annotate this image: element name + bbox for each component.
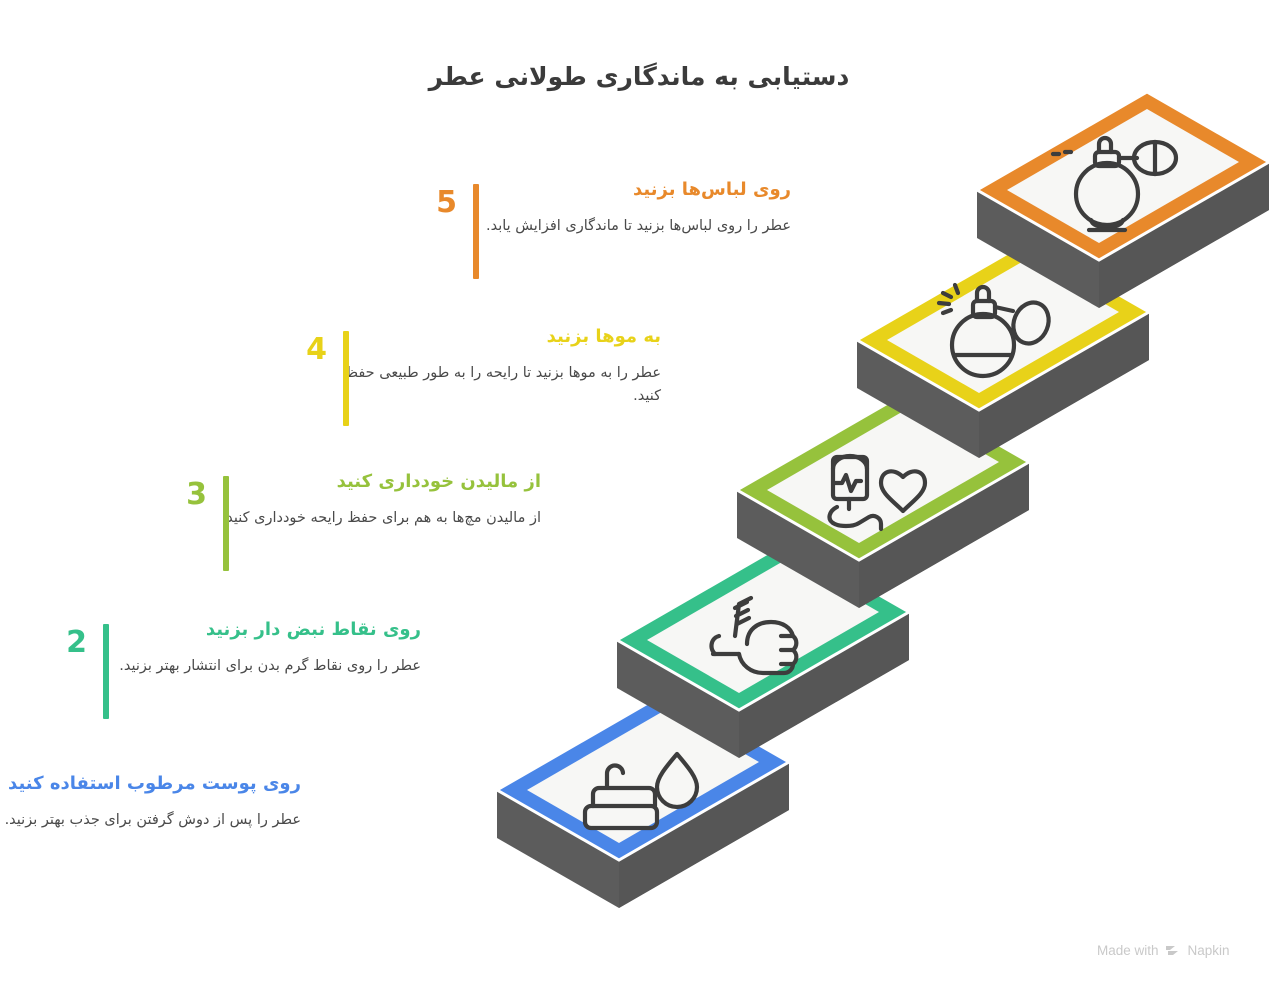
step-body-2: عطر را روی نقاط گرم بدن برای انتشار بهتر… xyxy=(100,655,422,677)
step-heading-1: روی پوست مرطوب استفاده کنید xyxy=(0,772,302,795)
watermark-brand: Napkin xyxy=(1189,943,1231,958)
step-heading-4: به موها بزنید xyxy=(340,325,662,348)
step-text-5: 5 روی لباس‌ها بزنید عطر را روی لباس‌ها ب… xyxy=(470,178,810,238)
watermark-prefix: Made with xyxy=(1098,943,1160,958)
atomizer-spray-icon xyxy=(940,285,1056,376)
step-number-2: 2 xyxy=(67,628,88,658)
step-accent-bar-3 xyxy=(224,476,230,571)
step-body-3: از مالیدن مچ‌ها به هم برای حفظ رایحه خود… xyxy=(220,507,542,529)
step-accent-bar-2 xyxy=(104,624,110,719)
napkin-chevrons-icon xyxy=(1166,943,1183,958)
infographic-canvas: دستیابی به ماندگاری طولانی عطر xyxy=(0,0,1280,993)
stair-step-2[interactable] xyxy=(618,542,910,758)
step-accent-bar-4 xyxy=(344,331,350,426)
step-text-1: 1 روی پوست مرطوب استفاده کنید عطر را پس … xyxy=(0,772,320,832)
step-heading-2: روی نقاط نبض دار بزنید xyxy=(100,618,422,641)
step-accent-bar-5 xyxy=(474,184,480,279)
stair-step-1[interactable] xyxy=(498,692,790,908)
perfume-bottle-bulb-icon xyxy=(1054,138,1177,230)
step-number-5: 5 xyxy=(437,188,458,218)
step-body-5: عطر را روی لباس‌ها بزنید تا ماندگاری افز… xyxy=(470,215,792,237)
stair-step-4[interactable] xyxy=(858,242,1150,458)
page-title: دستیابی به ماندگاری طولانی عطر xyxy=(0,62,1280,91)
step-text-3: 3 از مالیدن خودداری کنید از مالیدن مچ‌ها… xyxy=(220,470,560,530)
wrist-pulse-heart-icon xyxy=(831,456,926,529)
moisturizer-jar-droplet-icon xyxy=(586,754,698,828)
step-body-4: عطر را به موها بزنید تا رایحه را به طور … xyxy=(340,362,662,407)
step-number-3: 3 xyxy=(187,480,208,510)
stair-step-5[interactable] xyxy=(978,92,1270,308)
step-heading-5: روی لباس‌ها بزنید xyxy=(470,178,792,201)
step-text-4: 4 به موها بزنید عطر را به موها بزنید تا … xyxy=(340,325,680,407)
stair-step-3[interactable] xyxy=(738,392,1030,608)
step-body-1: عطر را پس از دوش گرفتن برای جذب بهتر بزن… xyxy=(0,809,302,831)
step-heading-3: از مالیدن خودداری کنید xyxy=(220,470,542,493)
made-with-napkin-watermark[interactable]: Made with Napkin xyxy=(1098,943,1231,958)
step-text-2: 2 روی نقاط نبض دار بزنید عطر را روی نقاط… xyxy=(100,618,440,678)
step-number-4: 4 xyxy=(307,335,328,365)
fist-hand-spray-icon xyxy=(713,598,798,673)
